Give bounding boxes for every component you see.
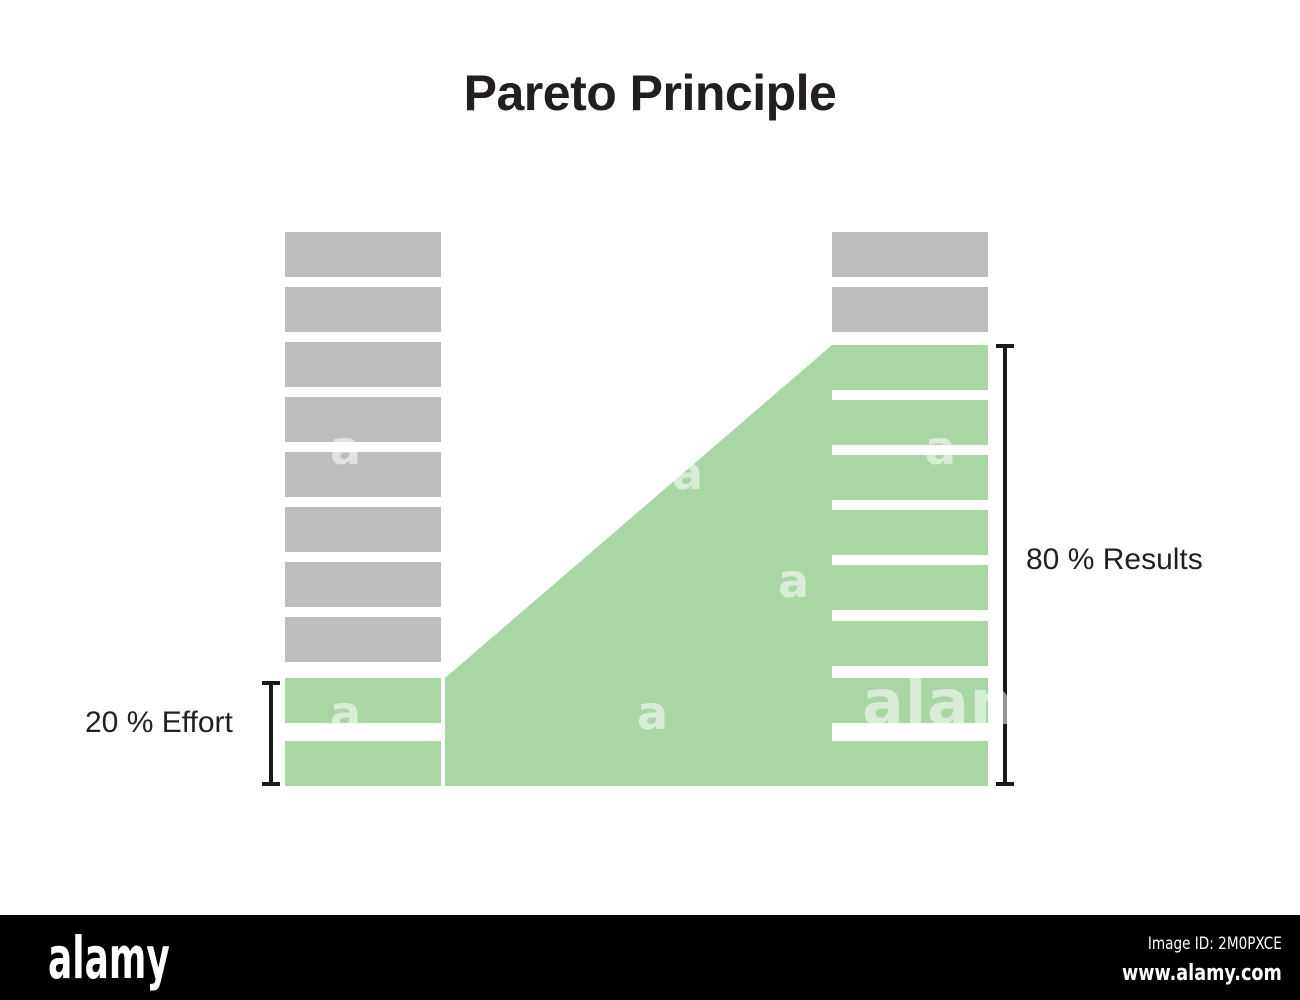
caliper-stem — [269, 681, 273, 786]
results-block-green-7 — [832, 678, 988, 723]
alamy-footer-bar: alamy Image ID: 2M0PXCE www.alamy.com — [0, 915, 1300, 1000]
effort-block-gray-8 — [285, 617, 441, 662]
screenshot-canvas: Pareto Principle — [0, 0, 1300, 1000]
effort-label: 20 % Effort — [85, 706, 233, 740]
caliper-cap-bottom — [996, 782, 1014, 786]
results-block-green-6 — [832, 621, 988, 666]
results-block-green-2 — [832, 400, 988, 445]
effort-block-gray-6 — [285, 507, 441, 552]
results-label: 80 % Results — [1026, 543, 1203, 577]
image-id-text: Image ID: 2M0PXCE — [1122, 933, 1282, 956]
alamy-url-text: www.alamy.com — [1122, 960, 1282, 989]
connector-wedge — [0, 0, 1300, 915]
caliper-cap-bottom — [262, 782, 280, 786]
results-block-gray-1 — [832, 232, 988, 277]
results-block-green-1 — [832, 345, 988, 390]
watermark-glyph: a — [637, 690, 668, 736]
effort-block-gray-4 — [285, 397, 441, 442]
effort-block-green-1 — [285, 678, 441, 723]
pareto-figure: 20 % Effort 80 % Results a a a a a a ala… — [0, 0, 1300, 915]
effort-block-gray-3 — [285, 342, 441, 387]
caliper-stem — [1003, 344, 1007, 786]
effort-block-gray-5 — [285, 452, 441, 497]
effort-block-gray-7 — [285, 562, 441, 607]
results-block-green-8 — [832, 741, 988, 786]
results-block-gray-2 — [832, 287, 988, 332]
watermark-glyph: a — [672, 450, 703, 496]
results-block-green-3 — [832, 455, 988, 500]
watermark-glyph: a — [778, 558, 809, 604]
effort-block-gray-1 — [285, 232, 441, 277]
effort-block-green-2 — [285, 741, 441, 786]
alamy-logo: alamy — [48, 929, 170, 987]
results-block-green-5 — [832, 565, 988, 610]
results-block-green-4 — [832, 510, 988, 555]
effort-block-gray-2 — [285, 287, 441, 332]
footer-meta: Image ID: 2M0PXCE www.alamy.com — [1082, 933, 1282, 989]
